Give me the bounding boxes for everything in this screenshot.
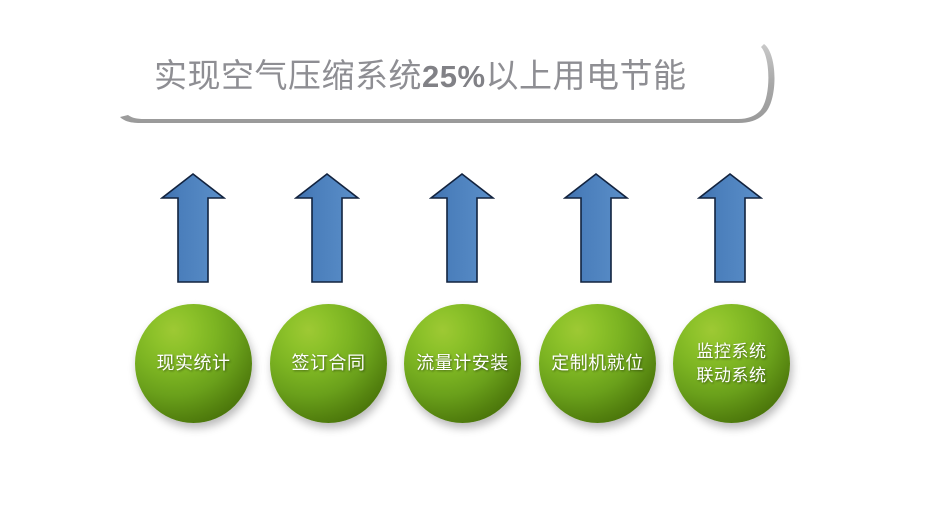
title-prefix: 实现空气压缩系统 <box>154 59 422 95</box>
title-percent: 25% <box>422 59 486 94</box>
process-node-5[interactable]: 监控系统 联动系统 <box>673 304 790 423</box>
process-node-2[interactable]: 签订合同 <box>270 304 387 423</box>
process-node-label-4: 定制机就位 <box>547 352 648 375</box>
up-arrow-icon-2 <box>294 172 360 284</box>
process-node-label-1: 现实统计 <box>153 352 235 375</box>
process-node-3[interactable]: 流量计安装 <box>404 304 521 423</box>
title-banner: 实现空气压缩系统25%以上用电节能 <box>118 36 778 128</box>
presentation-slide: 实现空气压缩系统25%以上用电节能 现实统计 签订合同 流量计安装 <box>0 0 945 529</box>
up-arrow-icon-4 <box>563 172 629 284</box>
up-arrow-icon-3 <box>429 172 495 284</box>
page-title: 实现空气压缩系统25%以上用电节能 <box>154 52 754 102</box>
up-arrow-icon-5 <box>697 172 763 284</box>
process-node-label-2: 签订合同 <box>288 352 370 375</box>
process-node-label-3: 流量计安装 <box>412 352 513 375</box>
process-node-1[interactable]: 现实统计 <box>135 304 252 423</box>
process-node-4[interactable]: 定制机就位 <box>539 304 656 423</box>
title-suffix: 以上用电节能 <box>486 59 687 95</box>
up-arrow-icon-1 <box>160 172 226 284</box>
process-node-label-5: 监控系统 联动系统 <box>693 340 771 388</box>
